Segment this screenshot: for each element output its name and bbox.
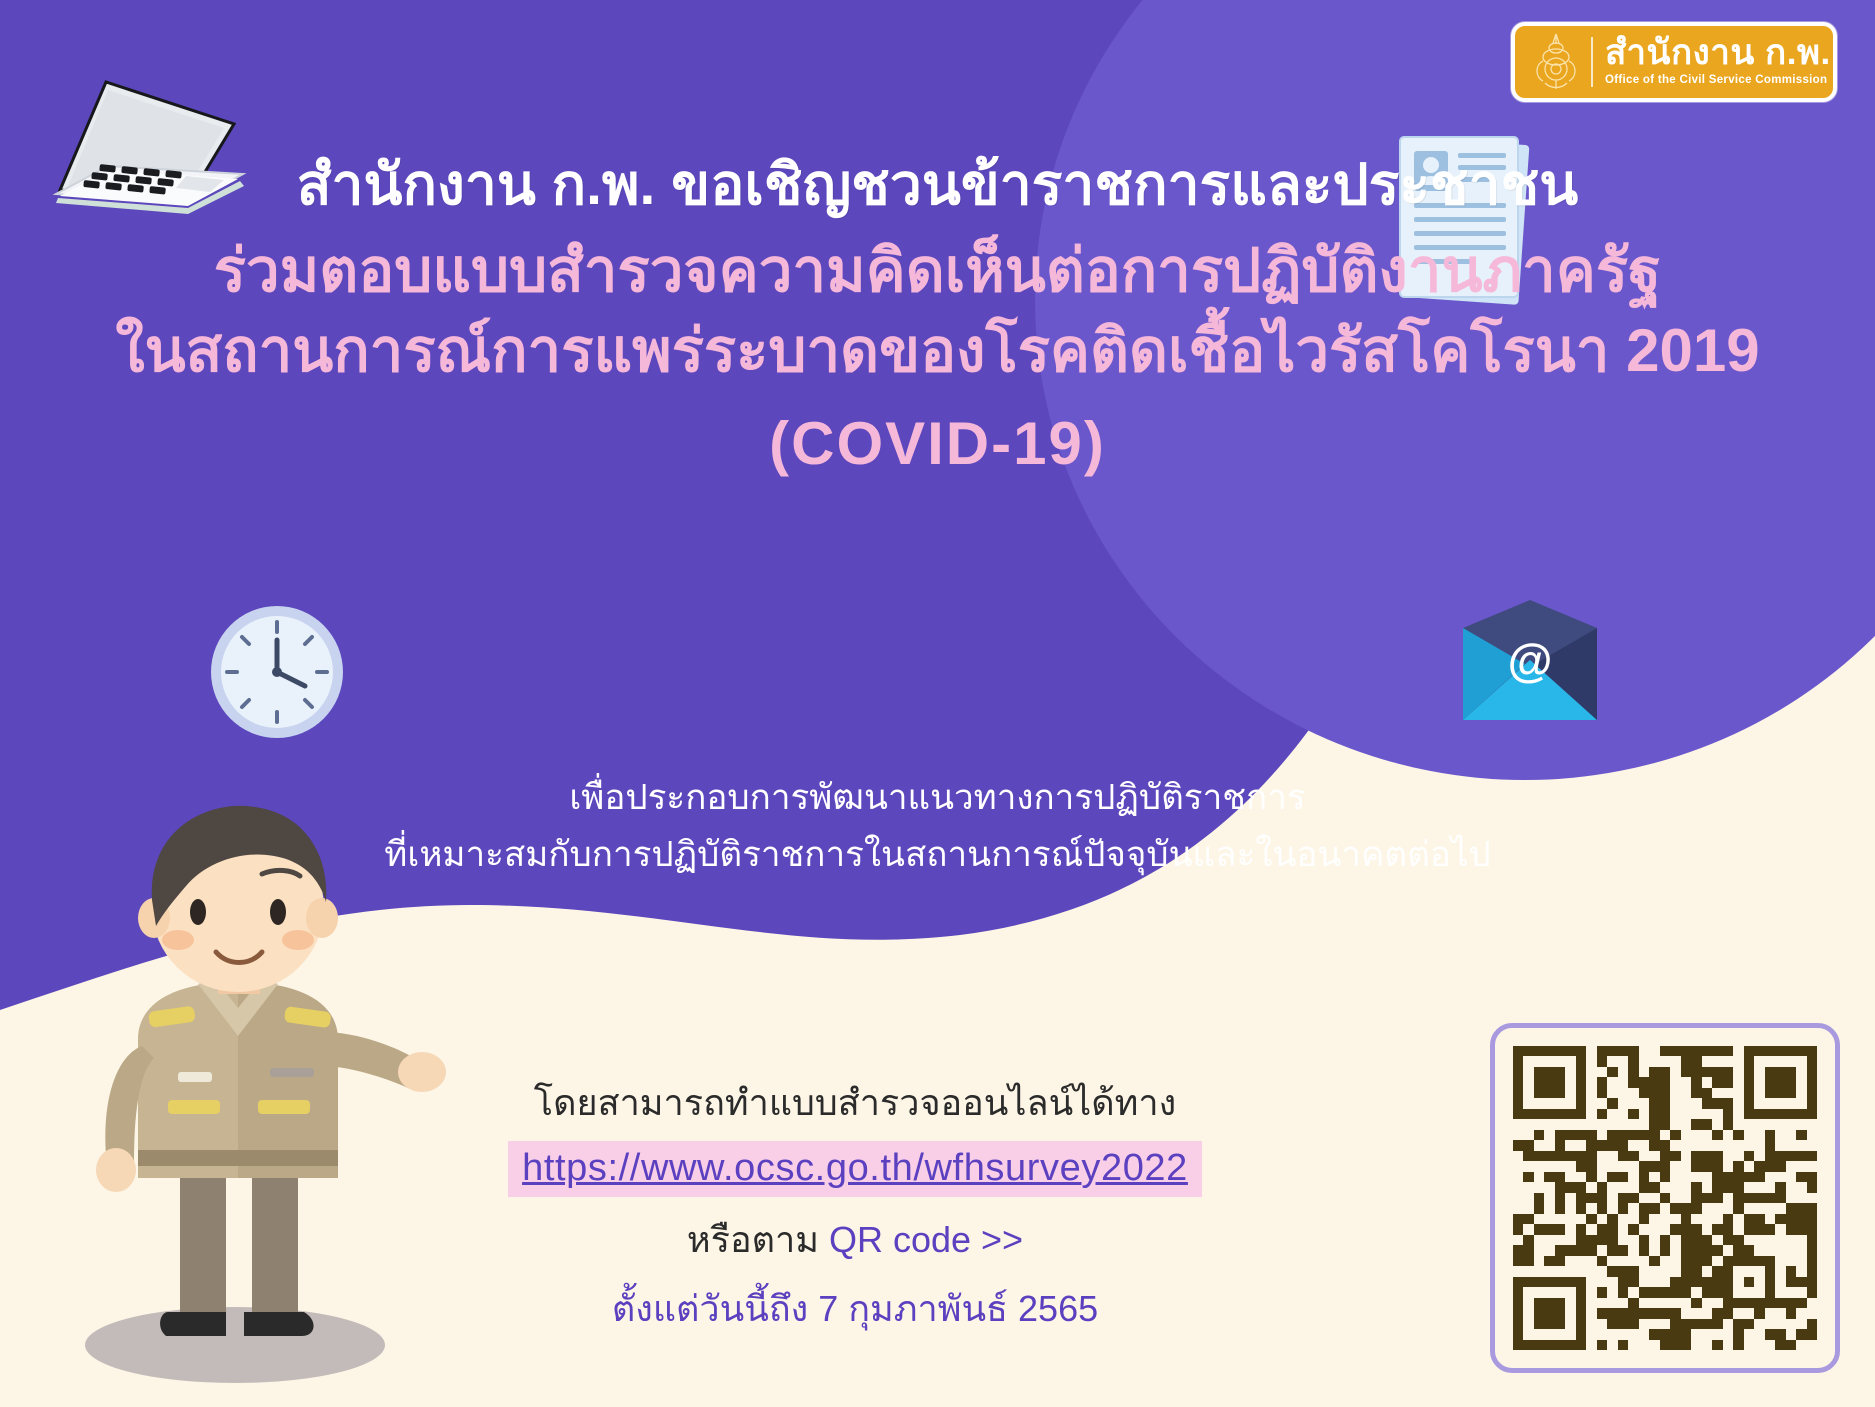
- thai-royal-emblem-icon: [1529, 31, 1583, 93]
- headline-pink: ร่วมตอบแบบสำรวจความคิดเห็นต่อการปฏิบัติง…: [0, 231, 1875, 391]
- qr-code-image[interactable]: [1490, 1023, 1840, 1373]
- headline-covid: (COVID-19): [0, 405, 1875, 483]
- headline-white: สำนักงาน ก.พ. ขอเชิญชวนข้าราชการและประชา…: [0, 150, 1875, 221]
- logo-thai-name: สำนักงาน ก.พ.: [1605, 35, 1831, 70]
- envelope-icon: @: [1455, 598, 1605, 728]
- poster-canvas: สำนักงาน ก.พ. Office of the Civil Servic…: [0, 0, 1875, 1407]
- cta-qr-line: หรือตาม QR code >>: [340, 1217, 1370, 1264]
- clock-icon: [205, 600, 350, 745]
- qr-code-modules: [1513, 1046, 1817, 1350]
- cta-qr-label: QR code >>: [829, 1219, 1023, 1260]
- svg-text:@: @: [1508, 634, 1553, 686]
- headline-pink-line-2: ในสถานการณ์การแพร่ระบาดของโรคติดเชื้อไวร…: [0, 311, 1875, 391]
- headline-pink-line-1: ร่วมตอบแบบสำรวจความคิดเห็นต่อการปฏิบัติง…: [0, 231, 1875, 311]
- headline-block: สำนักงาน ก.พ. ขอเชิญชวนข้าราชการและประชา…: [0, 150, 1875, 483]
- cta-block: โดยสามารถทำแบบสำรวจออนไลน์ได้ทาง https:/…: [340, 1080, 1370, 1333]
- cta-intro: โดยสามารถทำแบบสำรวจออนไลน์ได้ทาง: [340, 1080, 1370, 1127]
- ocsc-logo-badge: สำนักงาน ก.พ. Office of the Civil Servic…: [1511, 22, 1837, 102]
- cta-qr-prefix: หรือตาม: [687, 1219, 829, 1260]
- logo-english-name: Office of the Civil Service Commission: [1605, 72, 1831, 88]
- logo-divider: [1591, 37, 1593, 87]
- cta-deadline: ตั้งแต่วันนี้ถึง 7 กุมภาพันธ์ 2565: [340, 1286, 1370, 1333]
- survey-url-link[interactable]: https://www.ocsc.go.th/wfhsurvey2022: [508, 1141, 1202, 1198]
